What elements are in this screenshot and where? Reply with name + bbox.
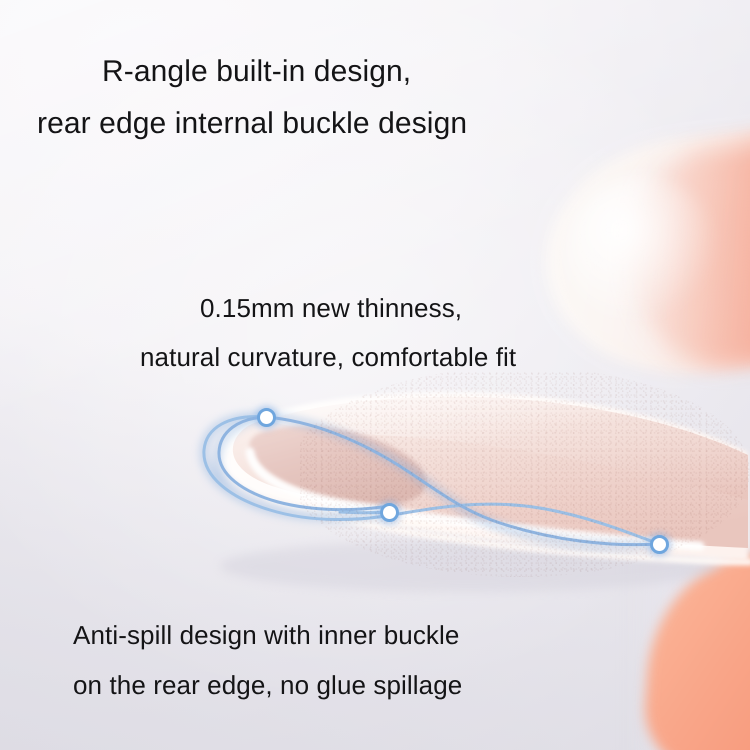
middle-caption-text: 0.15mm new thinness, natural curvature, … [200, 284, 516, 382]
annotation-marker-inner-buckle [380, 503, 399, 522]
bottom-caption-line-1: Anti-spill design with inner buckle [73, 610, 462, 660]
product-feature-image: R-angle built-in design, rear edge inter… [0, 0, 750, 750]
middle-caption-line-2: natural curvature, comfortable fit [140, 333, 516, 382]
bottom-caption-line-2: on the rear edge, no glue spillage [73, 660, 462, 710]
annotation-marker-upper-curl [257, 408, 276, 427]
bottom-caption-text: Anti-spill design with inner buckle on t… [73, 610, 462, 710]
headline-line-1: R-angle built-in design, [102, 46, 467, 98]
middle-caption-line-1: 0.15mm new thinness, [200, 284, 516, 333]
headline-line-2: rear edge internal buckle design [37, 98, 467, 150]
annotation-marker-rear-edge [650, 535, 669, 554]
headline-text: R-angle built-in design, rear edge inter… [102, 46, 467, 150]
